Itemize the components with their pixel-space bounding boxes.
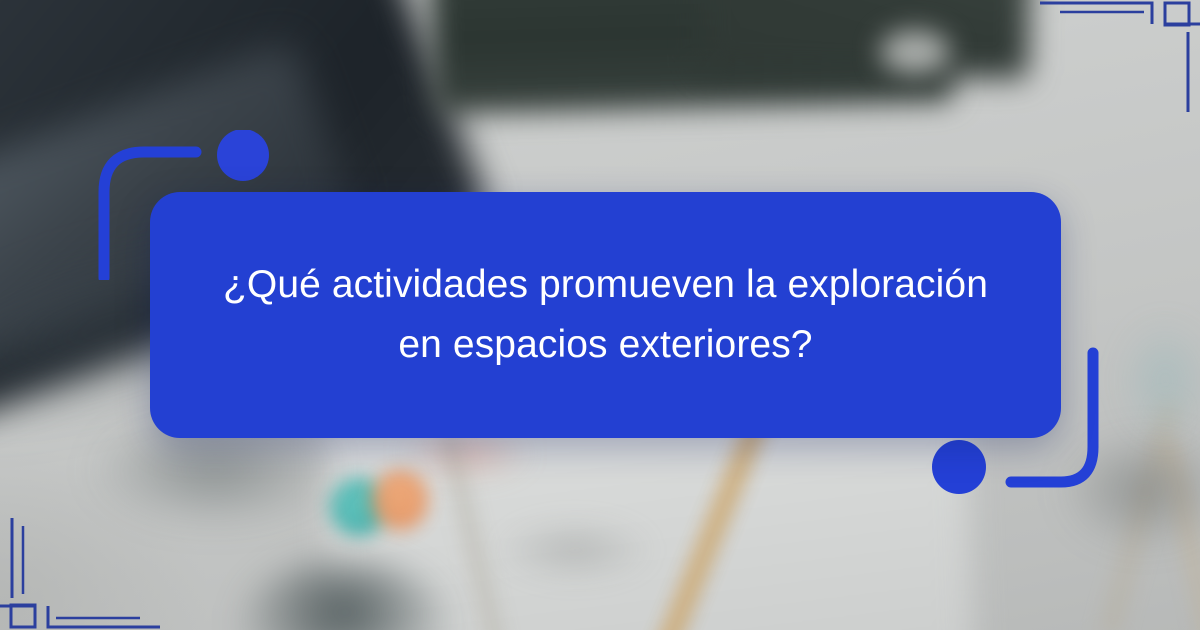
question-text: ¿Qué actividades promueven la exploració… (221, 255, 991, 375)
desk-teal-tint (1120, 320, 1200, 440)
keyboard-highlight (880, 30, 950, 74)
paper-text-blur (500, 520, 650, 580)
pie-chart-slice-orange (372, 470, 428, 530)
question-card-banner: ¿Qué actividades promueven la exploració… (0, 0, 1200, 630)
question-card: ¿Qué actividades promueven la exploració… (150, 192, 1061, 438)
keyboard-object-secondary (698, 0, 1031, 79)
